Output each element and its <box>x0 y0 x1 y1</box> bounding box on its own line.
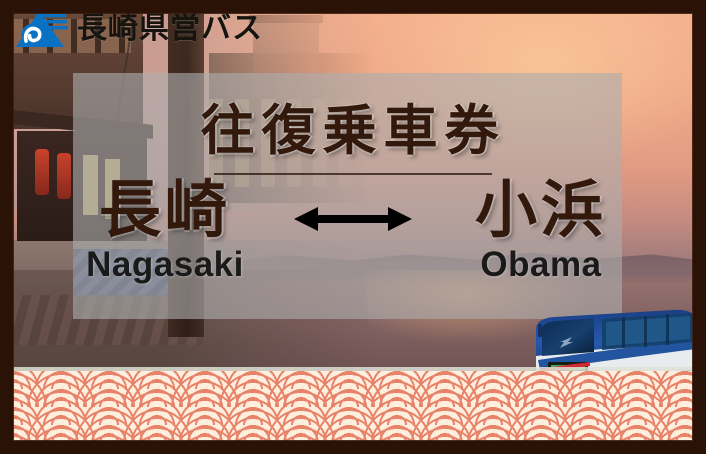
destination-stop: 小浜 Obama <box>436 178 646 285</box>
wave-band-top-edge <box>13 367 693 371</box>
bus-company-wing-logo-icon <box>12 8 68 50</box>
ticket-type-heading: 往復乗車券 <box>0 86 706 175</box>
seigaiha-wave-pattern-icon <box>13 371 693 441</box>
double-headed-arrow-icon <box>294 202 412 236</box>
destination-name-en: Obama <box>436 245 646 285</box>
origin-name-jp: 長崎 <box>60 178 270 243</box>
heading-underline <box>214 173 492 175</box>
origin-name-en: Nagasaki <box>60 245 270 285</box>
brand-header: 長崎県営バス <box>12 8 263 50</box>
round-trip-ticket-banner: 長崎県営バス 往復乗車券 長崎 Nagasaki 小浜 Obama <box>0 0 706 454</box>
ticket-type-label: 往復乗車券 <box>201 86 506 165</box>
company-name: 長崎県営バス <box>77 14 263 44</box>
route-row: 長崎 Nagasaki 小浜 Obama <box>60 178 646 285</box>
destination-name-jp: 小浜 <box>436 178 646 243</box>
origin-stop: 長崎 Nagasaki <box>60 178 270 285</box>
